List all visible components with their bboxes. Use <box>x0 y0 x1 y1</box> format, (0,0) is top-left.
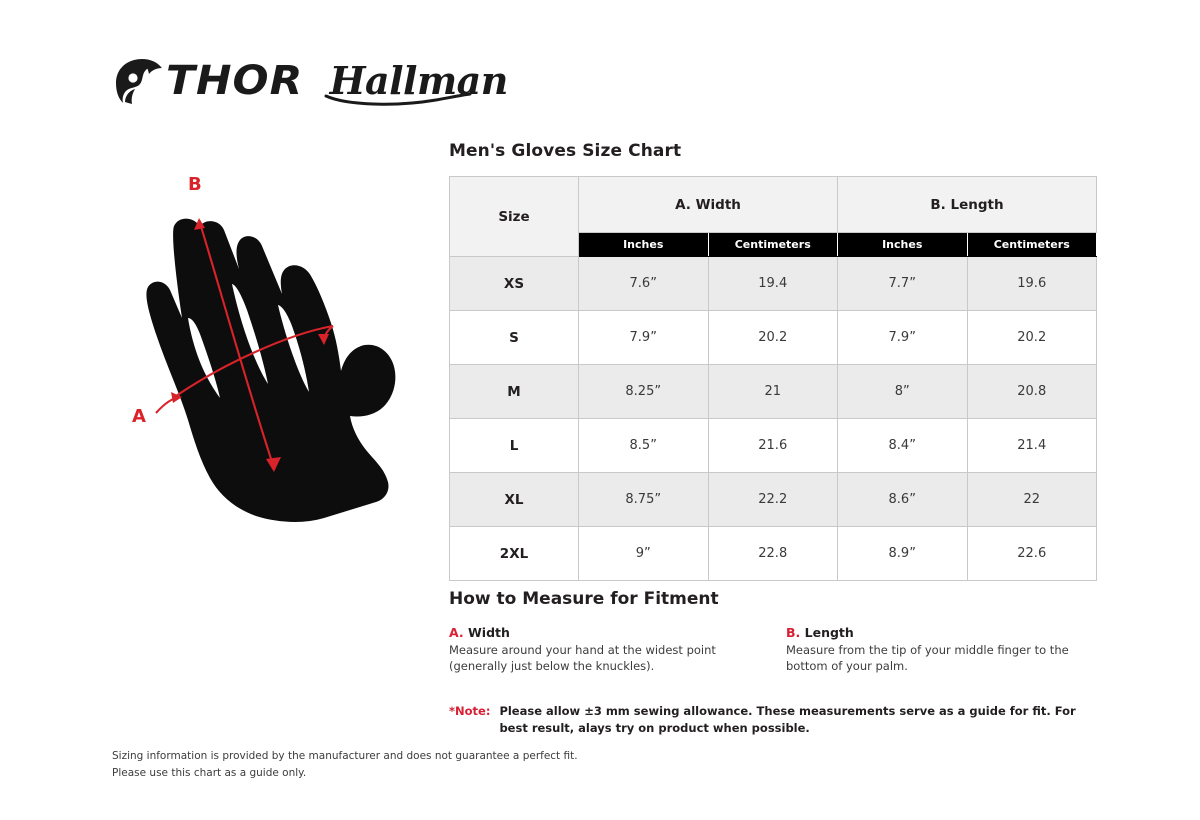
cell-width-in: 8.5” <box>579 419 709 473</box>
thor-helmet-icon <box>112 56 164 106</box>
table-row: 2XL 9” 22.8 8.9” 22.6 <box>450 527 1097 581</box>
header-width-inches: Inches <box>579 233 709 257</box>
table-row: M 8.25” 21 8” 20.8 <box>450 365 1097 419</box>
cell-size: XS <box>450 257 579 311</box>
hand-silhouette-icon <box>146 219 395 522</box>
table-row: XS 7.6” 19.4 7.7” 19.6 <box>450 257 1097 311</box>
cell-size: M <box>450 365 579 419</box>
header-group-width: A. Width <box>579 177 838 233</box>
measure-width-heading: A. Width <box>449 625 754 640</box>
cell-length-in: 8” <box>838 365 968 419</box>
measure-length-heading: B. Length <box>786 625 1091 640</box>
cell-width-cm: 20.2 <box>708 311 838 365</box>
thor-logo: THOR <box>112 56 296 106</box>
measure-length-description: Measure from the tip of your middle fing… <box>786 643 1091 675</box>
diagram-label-b: B <box>188 174 202 195</box>
cell-length-cm: 22.6 <box>967 527 1097 581</box>
cell-width-in: 7.9” <box>579 311 709 365</box>
footer-line-2: Please use this chart as a guide only. <box>112 765 578 782</box>
table-body: XS 7.6” 19.4 7.7” 19.6 S 7.9” 20.2 7.9” … <box>450 257 1097 581</box>
header-length-inches: Inches <box>838 233 968 257</box>
table-row: XL 8.75” 22.2 8.6” 22 <box>450 473 1097 527</box>
header-group-length: B. Length <box>838 177 1097 233</box>
how-to-measure-title: How to Measure for Fitment <box>449 589 719 609</box>
cell-width-cm: 21 <box>708 365 838 419</box>
table-header: Size A. Width B. Length Inches Centimete… <box>450 177 1097 257</box>
cell-width-in: 8.75” <box>579 473 709 527</box>
cell-length-cm: 22 <box>967 473 1097 527</box>
cell-width-in: 9” <box>579 527 709 581</box>
table-row: S 7.9” 20.2 7.9” 20.2 <box>450 311 1097 365</box>
cell-length-in: 7.9” <box>838 311 968 365</box>
hallman-logo: Hallman <box>330 62 508 100</box>
cell-length-in: 8.9” <box>838 527 968 581</box>
cell-size: L <box>450 419 579 473</box>
cell-width-in: 8.25” <box>579 365 709 419</box>
cell-width-cm: 22.2 <box>708 473 838 527</box>
size-chart-table: Size A. Width B. Length Inches Centimete… <box>449 176 1097 581</box>
table-row: L 8.5” 21.6 8.4” 21.4 <box>450 419 1097 473</box>
header-length-centimeters: Centimeters <box>967 233 1097 257</box>
cell-width-cm: 19.4 <box>708 257 838 311</box>
footer-line-1: Sizing information is provided by the ma… <box>112 748 578 765</box>
measure-length-letter: B. <box>786 625 800 640</box>
cell-length-cm: 19.6 <box>967 257 1097 311</box>
header-width-centimeters: Centimeters <box>708 233 838 257</box>
cell-size: 2XL <box>450 527 579 581</box>
cell-length-in: 8.4” <box>838 419 968 473</box>
note-label: *Note: <box>449 703 490 736</box>
measure-length-name: Length <box>805 625 854 640</box>
cell-size: XL <box>450 473 579 527</box>
brand-logo-bar: THOR Hallman <box>112 52 508 110</box>
note-text: Please allow ±3 mm sewing allowance. The… <box>499 703 1089 736</box>
measure-item-length: B. Length Measure from the tip of your m… <box>786 625 1091 675</box>
cell-length-cm: 20.8 <box>967 365 1097 419</box>
cell-width-cm: 21.6 <box>708 419 838 473</box>
cell-width-cm: 22.8 <box>708 527 838 581</box>
header-size: Size <box>450 177 579 257</box>
note-row: *Note: Please allow ±3 mm sewing allowan… <box>449 703 1089 736</box>
cell-length-in: 7.7” <box>838 257 968 311</box>
diagram-label-a: A <box>132 406 146 427</box>
hallman-swash-icon <box>324 92 474 106</box>
page-title: Men's Gloves Size Chart <box>449 141 681 161</box>
cell-width-in: 7.6” <box>579 257 709 311</box>
hand-measurement-diagram: B A <box>128 168 428 538</box>
cell-length-in: 8.6” <box>838 473 968 527</box>
measure-width-description: Measure around your hand at the widest p… <box>449 643 754 675</box>
measure-width-letter: A. <box>449 625 464 640</box>
footer-disclaimer: Sizing information is provided by the ma… <box>112 748 578 783</box>
cell-size: S <box>450 311 579 365</box>
measure-item-width: A. Width Measure around your hand at the… <box>449 625 754 675</box>
thor-wordmark: THOR <box>166 61 303 101</box>
cell-length-cm: 20.2 <box>967 311 1097 365</box>
cell-length-cm: 21.4 <box>967 419 1097 473</box>
measure-width-name: Width <box>468 625 510 640</box>
